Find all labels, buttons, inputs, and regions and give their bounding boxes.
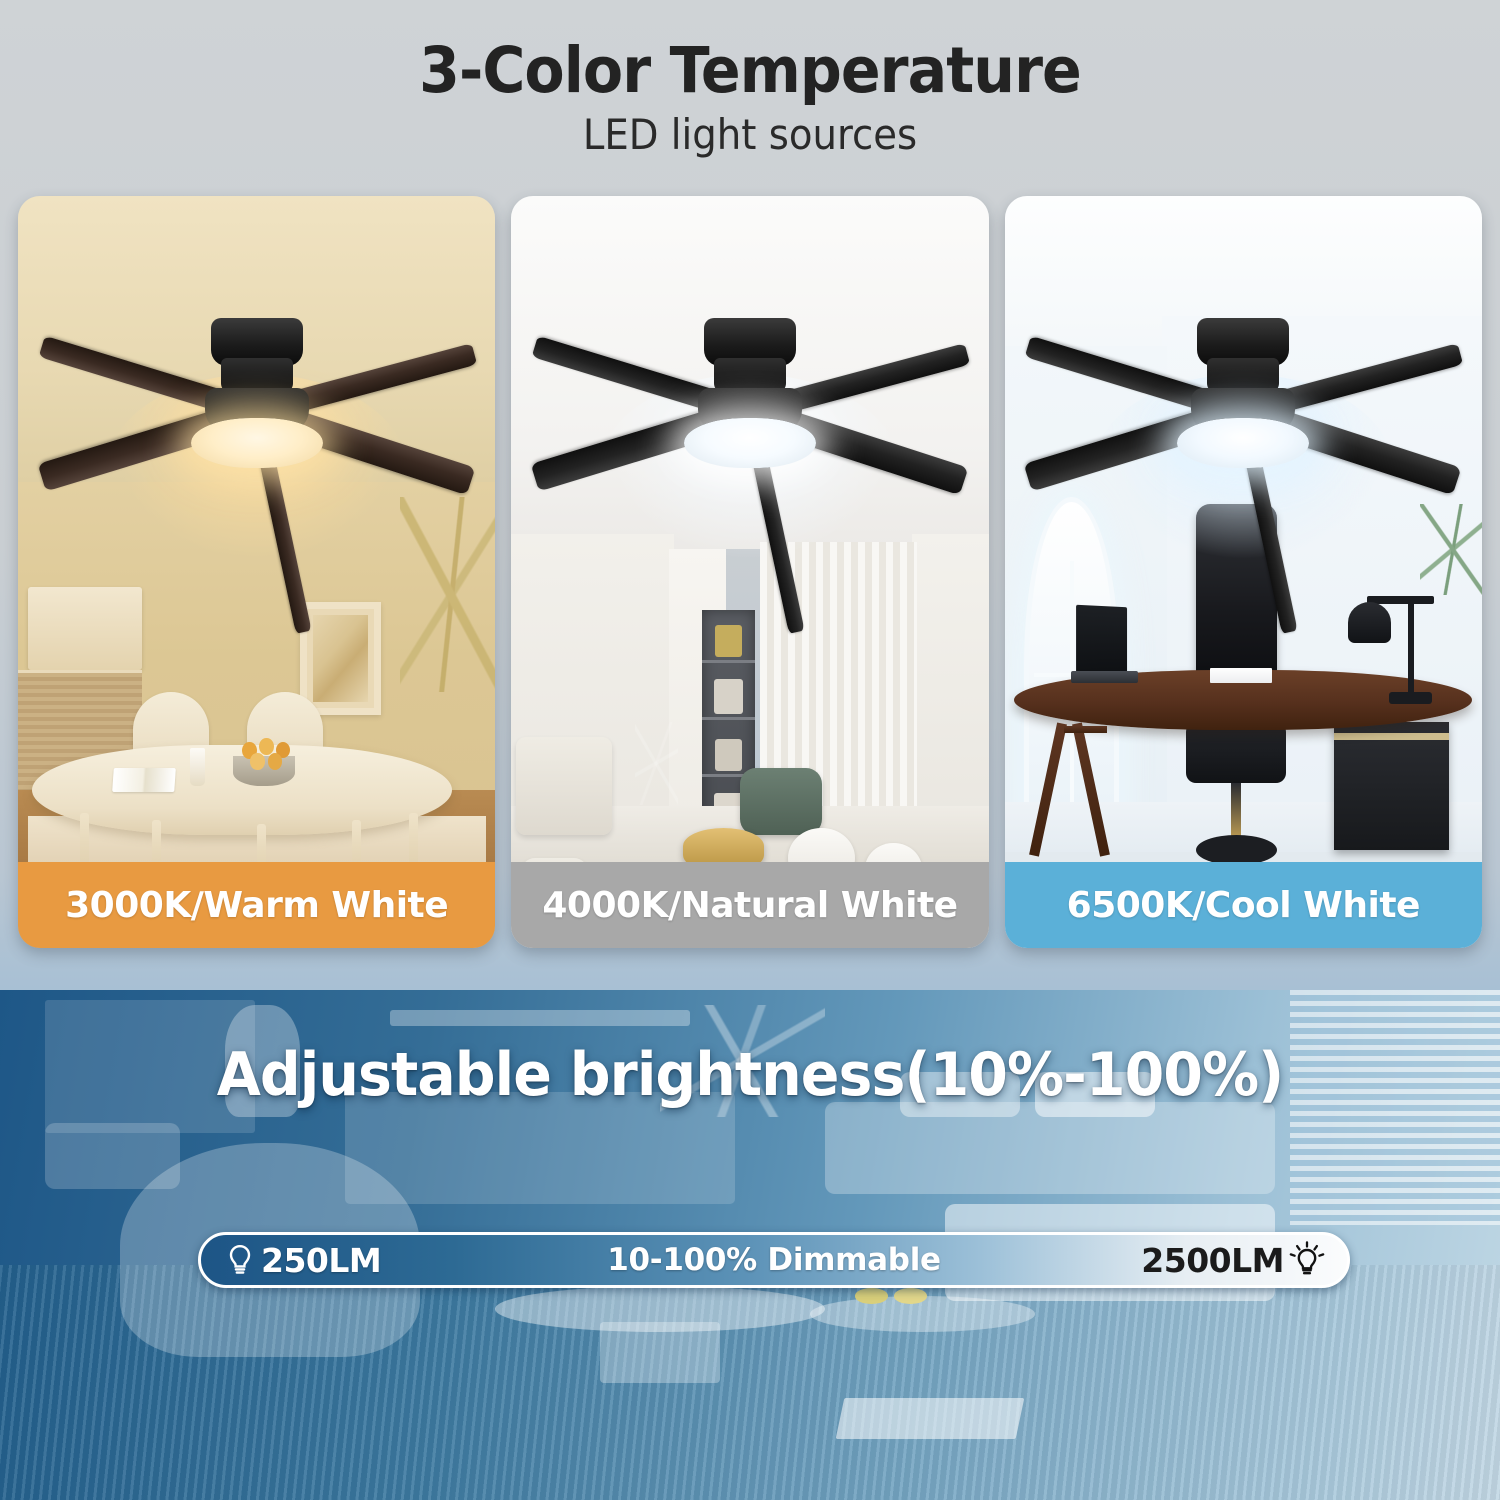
temperature-card-6500k[interactable]: 6500K/Cool White [1005,196,1482,948]
laptop [1076,605,1127,675]
magazine [836,1398,1025,1439]
card-label-text: 4000K/Natural White [542,885,957,926]
open-book [113,768,177,792]
led-light-kit [191,418,323,468]
color-temperature-section: 3-Color Temperature LED light sources [0,0,1500,990]
brightness-heading: Adjustable brightness(10%-100%) [38,1040,1463,1110]
fruit [894,1288,927,1303]
dimmable-range-label: 10-100% Dimmable [607,1242,941,1278]
drinking-glass [190,748,205,786]
warm-dining-room-photo [18,196,495,948]
card-label-3000k: 3000K/Warm White [18,862,495,948]
green-sofa [740,768,821,836]
max-lumens-group: 2500LM [1141,1241,1325,1280]
card-label-4000k: 4000K/Natural White [511,862,988,948]
cool-home-office-photo [1005,196,1482,948]
wall-shelf [390,1010,690,1025]
office-cabinet [1334,722,1449,850]
card-label-text: 3000K/Warm White [65,885,448,926]
potted-plant [635,722,678,805]
fruit [855,1288,888,1303]
bulb-icon [225,1243,255,1277]
min-lumens-value: 250LM [261,1241,381,1280]
potted-plant [1420,504,1482,594]
min-lumens-group: 250LM [225,1241,381,1280]
coffee-machine [28,587,143,670]
desk-lamp [1348,602,1391,643]
card-label-6500k: 6500K/Cool White [1005,862,1482,948]
page-subtitle: LED light sources [60,110,1440,159]
temperature-card-list: 3000K/Warm White [18,196,1482,948]
bulb-bright-icon [1289,1241,1325,1279]
page-title: 3-Color Temperature [53,38,1448,104]
temperature-card-3000k[interactable]: 3000K/Warm White [18,196,495,948]
led-light-kit [1177,418,1309,468]
dimmer-range-bar[interactable]: 250LM 10-100% Dimmable 2500LM [198,1232,1350,1288]
led-light-kit [684,418,816,468]
section-headings: 3-Color Temperature LED light sources [0,38,1500,159]
temperature-card-4000k[interactable]: 4000K/Natural White [511,196,988,948]
armchair [516,737,611,835]
wall-art-frame [300,602,381,715]
natural-living-room-photo [511,196,988,948]
card-label-text: 6500K/Cool White [1067,885,1420,926]
palm-leaf-decor [400,497,495,693]
max-lumens-value: 2500LM [1141,1241,1284,1280]
notepad [1210,668,1272,683]
